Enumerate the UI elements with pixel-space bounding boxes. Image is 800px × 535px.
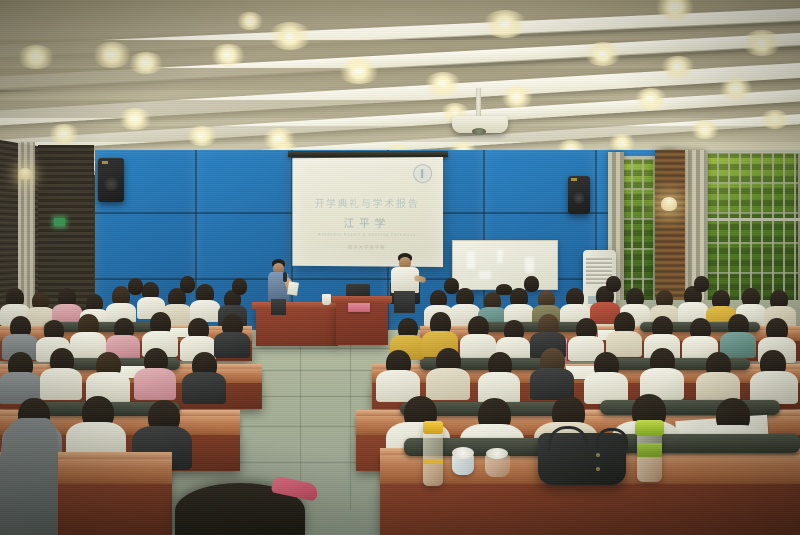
ceiling — [0, 0, 800, 175]
head-far-l11 — [180, 276, 195, 293]
lectern-top — [332, 296, 392, 303]
slide-presenter-name: 江平学 — [301, 215, 434, 231]
tissue-in-cup — [452, 447, 474, 459]
window-mullion — [704, 218, 800, 221]
whiteboard — [452, 240, 558, 290]
head-far-r16 — [606, 276, 621, 292]
wall-speaker-right — [568, 176, 590, 214]
handbag-strap-right — [596, 428, 628, 449]
water-bottle-green-cap-lid — [635, 420, 664, 436]
wall-sconce-icon — [18, 168, 32, 180]
head-far-r14 — [444, 278, 459, 294]
front-table-left — [256, 306, 338, 346]
slide-title: 开学典礼与学术报告 — [301, 195, 434, 210]
torso-r3-l4 — [134, 368, 176, 400]
foreground-person-left — [0, 418, 58, 535]
lecture-hall-photo: EPSON — [0, 0, 800, 535]
wall-sconce-right-icon — [661, 197, 677, 211]
water-bottle-green-label — [637, 443, 662, 457]
water-bottle-yellow-label — [423, 459, 443, 464]
projection-screen-housing — [288, 151, 448, 157]
cup-on-front-table — [322, 294, 331, 305]
microphone-icon — [283, 272, 287, 282]
head-far-l10 — [128, 278, 143, 295]
handbag-strap-left — [548, 426, 588, 451]
presenter-left-legs — [271, 299, 286, 315]
torso-r3-l2 — [40, 368, 82, 400]
head-far-r15 — [524, 276, 539, 292]
presenter-right-legs — [394, 291, 415, 313]
tissue-in-clear-cup — [486, 448, 508, 459]
wall-speaker-left — [98, 158, 124, 202]
slide-organization: 四川大学商学院 — [301, 244, 434, 251]
head-far-l12 — [232, 278, 247, 295]
torso-r2-l7 — [214, 332, 250, 358]
slide-subtitle: Academic Report & Opening Ceremony — [301, 233, 434, 237]
emergency-exit-sign — [54, 218, 65, 226]
projector-lens — [472, 128, 486, 135]
torso-r3-r2 — [426, 368, 470, 400]
university-seal-icon — [413, 164, 432, 183]
name-card — [348, 303, 370, 312]
water-bottle-yellow-cap-lid — [423, 421, 443, 434]
torso-r3-l5 — [182, 372, 226, 404]
projection-screen: 开学典礼与学术报告 江平学 Academic Report & Opening … — [292, 157, 443, 267]
handheld-paper — [287, 281, 299, 295]
head-far-r17 — [694, 276, 709, 292]
